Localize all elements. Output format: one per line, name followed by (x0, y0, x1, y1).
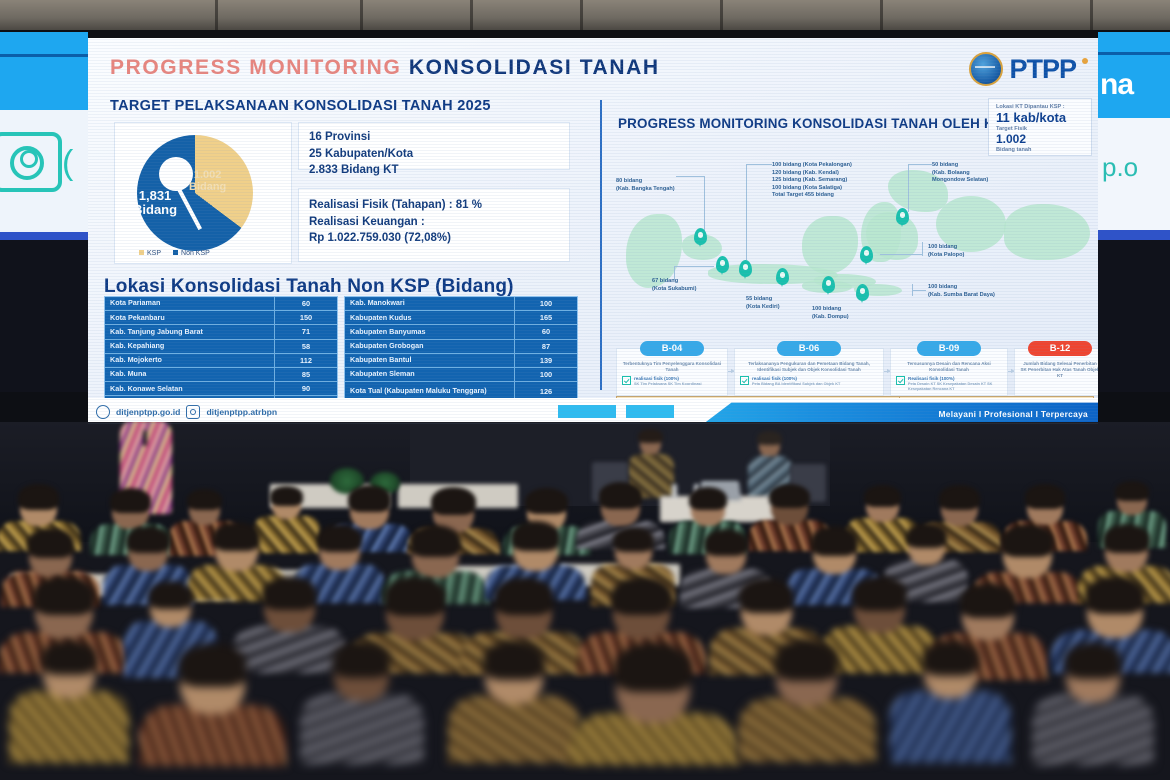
table-cell-name: Kab. Tanjung Jabung Barat (105, 328, 274, 336)
table-cell-name: Kabupaten Grobogan (345, 342, 514, 350)
table-cell-value: 100 (514, 368, 577, 381)
column-divider (600, 100, 602, 390)
donut-non-ksp-value: 1,831 (133, 189, 177, 203)
led-right-text-top: na (1100, 68, 1133, 102)
donut-label-ksp: 1.002 Bidang (189, 169, 226, 193)
table-cell-name: Kota Pariaman (105, 299, 274, 307)
milestone-b-12[interactable]: B-12Jumlah Bidang Selesai Penerbitan SK … (1014, 348, 1098, 396)
kpi-value-target: 1.002 (996, 132, 1084, 147)
audience-member (448, 643, 579, 763)
map-pin-bolaang (896, 208, 909, 225)
table-cell-name: Kota Tual (Kabupaten Maluku Tenggara) (345, 387, 514, 395)
kpi-value-lokasi: 11 kab/kota (996, 110, 1084, 126)
target-section-title: TARGET PELAKSANAAN KONSOLIDASI TANAH 202… (110, 98, 491, 114)
table-cell-name: Kab. Konawe Selatan (105, 385, 274, 393)
footer-social: ditjenptpp.atrbpn (206, 407, 277, 417)
milestone-tag: B-06 (777, 341, 841, 356)
audience-member (300, 644, 424, 764)
logo-accent-dot (1082, 58, 1088, 64)
donut-ksp-unit: Bidang (189, 181, 226, 193)
milestone-bar: B-04Terbentuknya Tim Penyelenggara Konso… (616, 338, 1094, 396)
donut-chart: 1.002 Bidang 1,831 Bidang KSP Non KSP (114, 122, 292, 264)
map-pin-jateng (739, 260, 752, 277)
table-cell-value: 85 (274, 368, 337, 381)
globe-emblem-icon (969, 52, 1003, 86)
donut-legend: KSP Non KSP (139, 250, 210, 257)
footer-tagline: Melayani l Profesional l Terpercaya (938, 409, 1088, 419)
map-pin-palopo (860, 246, 873, 263)
audience-member (890, 643, 1011, 763)
footer-site: ditjenptpp.go.id (116, 407, 180, 417)
audience (0, 482, 1170, 780)
milestone-tag: B-12 (1028, 341, 1092, 356)
milestone-sub: SK Tim Pelaksana SK Tim Koordinasi (634, 382, 702, 387)
map-anno-bolaang: 50 bidang (Kab. Bolaang Mongondow Selata… (932, 162, 988, 185)
realisasi-fisik: Realisasi Fisik (Tahapan) : 81 % (309, 197, 559, 214)
audience-member (139, 646, 285, 766)
table-cell-value: 60 (514, 325, 577, 338)
milestone-b-09[interactable]: B-09Tersusunnya Desain dan Rencana Aksi … (890, 348, 1008, 396)
table-row: Kab. Konawe Selatan90 (105, 382, 337, 396)
legend-item-ksp: KSP (139, 250, 161, 257)
map-pin-sukabumi (716, 256, 729, 273)
milestone-tag: B-09 (917, 341, 981, 356)
table-cell-name: Kota Pekanbaru (105, 314, 274, 322)
donut-non-ksp-unit: Bidang (133, 203, 177, 217)
milestone-b-06[interactable]: B-06Terlaksananya Pengukuran dan Pemetaa… (734, 348, 884, 396)
audience-member (738, 642, 876, 762)
table-cell-name: Kab. Kepahiang (105, 342, 274, 350)
realisasi-box: Realisasi Fisik (Tahapan) : 81 % Realisa… (298, 188, 570, 262)
map-anno-sukabumi: 67 bidang (Kota Sukabumi) (652, 278, 696, 293)
checkbox-icon (896, 376, 905, 385)
table-row: Kabupaten Banyumas60 (345, 325, 577, 339)
table-row: Kota Pekanbaru150 (105, 311, 337, 325)
slide-title: PROGRESS MONITORING KONSOLIDASI TANAH (110, 56, 660, 80)
screenshot-root: ( na p.o PROGRESS MONITORING KONSOLIDASI… (0, 0, 1170, 780)
milestone-realisasi: Realisasi fisik (100%)Peta Desain KT SK … (896, 376, 1002, 392)
table-row: Kab. Manokwari100 (345, 297, 577, 311)
table-cell-name: Kabupaten Banyumas (345, 328, 514, 336)
instagram-icon (186, 405, 200, 419)
ceiling (0, 0, 1170, 32)
table-cell-value: 71 (274, 325, 337, 338)
audience-member (569, 645, 738, 765)
led-right-text-bottom: p.o (1102, 152, 1138, 183)
legend-item-non-ksp: Non KSP (173, 250, 210, 257)
realisasi-keuangan-value: Rp 1.022.759.030 (72,08%) (309, 230, 559, 247)
donut-label-non-ksp: 1,831 Bidang (133, 189, 177, 218)
globe-icon (96, 405, 110, 419)
stats-box: 16 Provinsi 25 Kabupaten/Kota 2.833 Bida… (298, 122, 570, 170)
table-cell-value: 87 (514, 340, 577, 353)
map-anno-dompu: 100 bidang (Kab. Dompu) (812, 306, 849, 321)
ptpp-logo: PTPP (969, 52, 1088, 86)
map-pin-sumba (856, 284, 869, 301)
map-anno-bangka: 80 bidang (Kab. Bangka Tengah) (616, 178, 675, 193)
table-row: Kab. Tanjung Jabung Barat71 (105, 325, 337, 339)
table-cell-value: 100 (514, 297, 577, 310)
conference-room (0, 422, 1170, 780)
presentation-slide: PROGRESS MONITORING KONSOLIDASI TANAH PT… (88, 38, 1098, 424)
milestone-realisasi-text: realisasi fisik (100%)SK Tim Pelaksana S… (634, 376, 702, 387)
slide-footer: ditjenptpp.go.id ditjenptpp.atrbpn Melay… (88, 398, 1098, 424)
table-row: Kabupaten Kudus165 (345, 311, 577, 325)
led-panel-right: na p.o (1098, 32, 1170, 392)
ptpp-logo-text: PTPP (1009, 54, 1076, 85)
table-cell-value: 139 (514, 354, 577, 367)
stat-kabupaten: 25 Kabupaten/Kota (309, 146, 559, 163)
table-row: Kab. Muna85 (105, 368, 337, 382)
indonesia-map: 80 bidang (Kab. Bangka Tengah) 100 bidan… (616, 156, 1094, 338)
milestone-sub: Peta Desain KT SK Kesepakatan Desain KT … (908, 382, 1002, 392)
led-left-text: ( (62, 144, 73, 183)
map-anno-palopo: 100 bidang (Kota Palopo) (928, 244, 964, 259)
table-row: Kab. Kepahiang58 (105, 340, 337, 354)
footer-contacts: ditjenptpp.go.id ditjenptpp.atrbpn (96, 405, 277, 419)
table-row: Kabupaten Grobogan87 (345, 340, 577, 354)
audience-member (9, 643, 128, 763)
stat-provinsi: 16 Provinsi (309, 129, 559, 146)
table-cell-name: Kab. Manokwari (345, 299, 514, 307)
table-cell-value: 112 (274, 354, 337, 367)
table-row: Kabupaten Sleman100 (345, 368, 577, 382)
milestone-realisasi: realisasi fisik (100%)SK Tim Pelaksana S… (622, 376, 722, 387)
table-cell-value: 90 (274, 382, 337, 395)
table-cell-name: Kabupaten Sleman (345, 370, 514, 378)
checkbox-icon (622, 376, 631, 385)
table-cell-value: 165 (514, 311, 577, 324)
ksp-section-title: PROGRESS MONITORING KONSOLIDASI TANAH OL… (618, 116, 1012, 131)
table-row: Kab. Mojokerto112 (105, 354, 337, 368)
kpi-box: Lokasi KT Dipantau KSP : 11 kab/kota Tar… (988, 98, 1092, 156)
table-cell-name: Kabupaten Bantul (345, 356, 514, 364)
map-anno-kediri: 55 bidang (Kota Kediri) (746, 296, 780, 311)
table-cell-value: 60 (274, 297, 337, 310)
map-anno-sumba: 100 bidang (Kab. Sumba Barat Daya) (928, 284, 995, 299)
milestone-realisasi-text: realisasi fisik (100%)Peta Bidang BA Ide… (752, 376, 840, 387)
map-pin-dompu (822, 276, 835, 293)
milestone-realisasi: realisasi fisik (100%)Peta Bidang BA Ide… (740, 376, 878, 387)
map-anno-jateng: 100 bidang (Kota Pekalongan) 120 bidang … (772, 162, 852, 200)
milestone-description: Terlaksananya Pengukuran dan Pemetaan Bi… (740, 361, 878, 373)
donut-ksp-value: 1.002 (189, 169, 226, 181)
checkbox-icon (740, 376, 749, 385)
slide-title-blue: KONSOLIDASI TANAH (409, 56, 660, 79)
milestone-description: Jumlah Bidang Selesai Penerbitan SK Pene… (1020, 361, 1098, 379)
table-row: Kabupaten Bantul139 (345, 354, 577, 368)
lokasi-table-title: Lokasi Konsolidasi Tanah Non KSP (Bidang… (104, 276, 514, 298)
audience-member (1032, 645, 1155, 765)
microphone-icon (143, 430, 147, 446)
kpi-label-unit: Bidang tanah (996, 147, 1084, 153)
milestone-tag: B-04 (640, 341, 704, 356)
table-row: Kota Pariaman60 (105, 297, 337, 311)
realisasi-keuangan-label: Realisasi Keuangan : (309, 214, 559, 231)
table-cell-value: 150 (274, 311, 337, 324)
map-pin-bangka-tengah (694, 228, 707, 245)
map-pin-kediri (776, 268, 789, 285)
led-panel-left: ( (0, 32, 88, 392)
table-cell-name: Kab. Mojokerto (105, 356, 274, 364)
milestone-b-04[interactable]: B-04Terbentuknya Tim Penyelenggara Konso… (616, 348, 728, 396)
table-cell-name: Kabupaten Kudus (345, 314, 514, 322)
milestone-description: Tersusunnya Desain dan Rencana Aksi Kons… (896, 361, 1002, 373)
milestone-sub: Peta Bidang BA Identifikasi Subjek dan O… (752, 382, 840, 387)
milestone-description: Terbentuknya Tim Penyelenggara Konsolida… (622, 361, 722, 373)
milestone-realisasi-text: Realisasi fisik (100%)Peta Desain KT SK … (908, 376, 1002, 392)
table-cell-value: 58 (274, 340, 337, 353)
stat-bidang: 2.833 Bidang KT (309, 162, 559, 179)
slide-title-red: PROGRESS MONITORING (110, 56, 401, 79)
table-cell-name: Kab. Muna (105, 370, 274, 378)
